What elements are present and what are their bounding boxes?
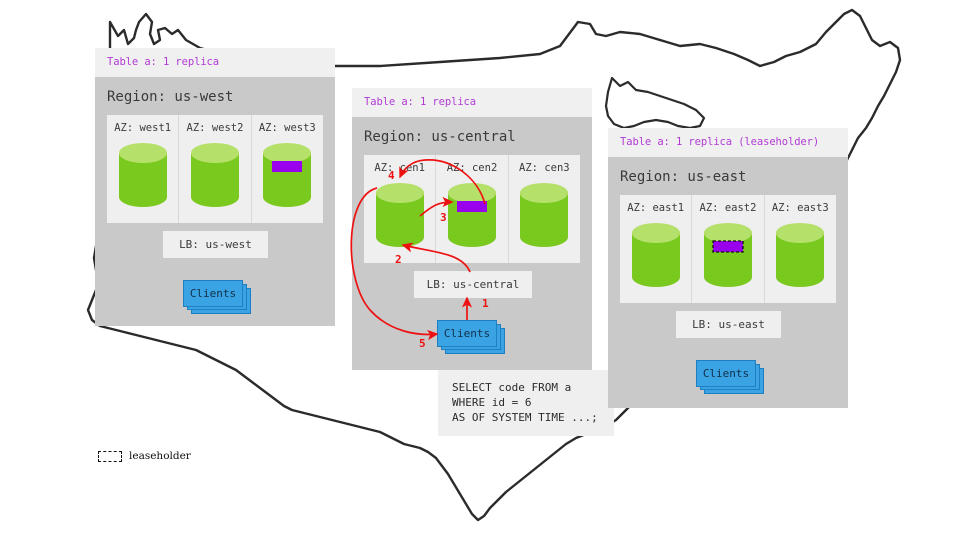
az-cell-cen1[interactable]: AZ: cen1 bbox=[364, 155, 436, 263]
clients-us-central[interactable]: Clients bbox=[437, 320, 497, 347]
step-label-2: 2 bbox=[395, 253, 402, 266]
az-cell-east2[interactable]: AZ: east2 bbox=[692, 195, 764, 303]
load-balancer-us-central[interactable]: LB: us-central bbox=[414, 271, 532, 298]
region-title-us-central: Region: us-central bbox=[352, 117, 592, 155]
az-label-east2: AZ: east2 bbox=[700, 202, 757, 214]
replica-block-west3 bbox=[272, 161, 302, 172]
node-cylinder-cen3[interactable] bbox=[518, 181, 570, 249]
load-balancer-us-east[interactable]: LB: us-east bbox=[676, 311, 781, 338]
az-cell-east3[interactable]: AZ: east3 bbox=[765, 195, 836, 303]
clients-label-us-west[interactable]: Clients bbox=[183, 280, 243, 307]
az-label-east1: AZ: east1 bbox=[627, 202, 684, 214]
region-panel-us-east: Table a: 1 replica (leaseholder) Region:… bbox=[608, 128, 848, 408]
node-cylinder-cen2[interactable] bbox=[446, 181, 498, 249]
node-cylinder-west1[interactable] bbox=[117, 141, 169, 209]
node-cylinder-east1[interactable] bbox=[630, 221, 682, 289]
region-title-us-west: Region: us-west bbox=[95, 77, 335, 115]
region-banner-us-central: Table a: 1 replica bbox=[352, 88, 592, 117]
az-cell-west2[interactable]: AZ: west2 bbox=[179, 115, 251, 223]
az-row-us-central: AZ: cen1 AZ: cen2 bbox=[364, 155, 580, 263]
az-label-east3: AZ: east3 bbox=[772, 202, 829, 214]
az-label-west3: AZ: west3 bbox=[259, 122, 316, 134]
region-panel-us-west: Table a: 1 replica Region: us-west AZ: w… bbox=[95, 48, 335, 326]
node-cylinder-east2[interactable] bbox=[702, 221, 754, 289]
az-label-west2: AZ: west2 bbox=[187, 122, 244, 134]
replica-block-cen2 bbox=[457, 201, 487, 212]
step-label-4: 4 bbox=[388, 169, 395, 182]
az-row-us-west: AZ: west1 AZ: west2 AZ: bbox=[107, 115, 323, 223]
dashed-rect-icon bbox=[98, 451, 122, 462]
az-label-cen2: AZ: cen2 bbox=[447, 162, 498, 174]
step-label-1: 1 bbox=[482, 297, 489, 310]
sql-query-box: SELECT code FROM a WHERE id = 6 AS OF SY… bbox=[438, 370, 614, 436]
az-label-west1: AZ: west1 bbox=[114, 122, 171, 134]
region-panel-us-central: Table a: 1 replica Region: us-central AZ… bbox=[352, 88, 592, 370]
legend-label: leaseholder bbox=[129, 450, 191, 462]
region-title-us-east: Region: us-east bbox=[608, 157, 848, 195]
clients-us-east[interactable]: Clients bbox=[696, 360, 756, 387]
step-label-3: 3 bbox=[440, 211, 447, 224]
az-label-cen3: AZ: cen3 bbox=[519, 162, 570, 174]
region-banner-us-west: Table a: 1 replica bbox=[95, 48, 335, 77]
node-cylinder-west3[interactable] bbox=[261, 141, 313, 209]
replica-block-east2-leaseholder bbox=[713, 241, 743, 252]
az-cell-cen2[interactable]: AZ: cen2 bbox=[436, 155, 508, 263]
clients-label-us-central[interactable]: Clients bbox=[437, 320, 497, 347]
diagram-canvas: Table a: 1 replica Region: us-west AZ: w… bbox=[0, 0, 960, 540]
az-cell-cen3[interactable]: AZ: cen3 bbox=[509, 155, 580, 263]
az-cell-west3[interactable]: AZ: west3 bbox=[252, 115, 323, 223]
clients-us-west[interactable]: Clients bbox=[183, 280, 243, 307]
legend: leaseholder bbox=[98, 450, 191, 462]
node-cylinder-west2[interactable] bbox=[189, 141, 241, 209]
node-cylinder-east3[interactable] bbox=[774, 221, 826, 289]
az-label-cen1: AZ: cen1 bbox=[374, 162, 425, 174]
az-row-us-east: AZ: east1 AZ: east2 bbox=[620, 195, 836, 303]
node-cylinder-cen1[interactable] bbox=[374, 181, 426, 249]
step-label-5: 5 bbox=[419, 337, 426, 350]
region-banner-us-east: Table a: 1 replica (leaseholder) bbox=[608, 128, 848, 157]
az-cell-east1[interactable]: AZ: east1 bbox=[620, 195, 692, 303]
az-cell-west1[interactable]: AZ: west1 bbox=[107, 115, 179, 223]
load-balancer-us-west[interactable]: LB: us-west bbox=[163, 231, 268, 258]
clients-label-us-east[interactable]: Clients bbox=[696, 360, 756, 387]
